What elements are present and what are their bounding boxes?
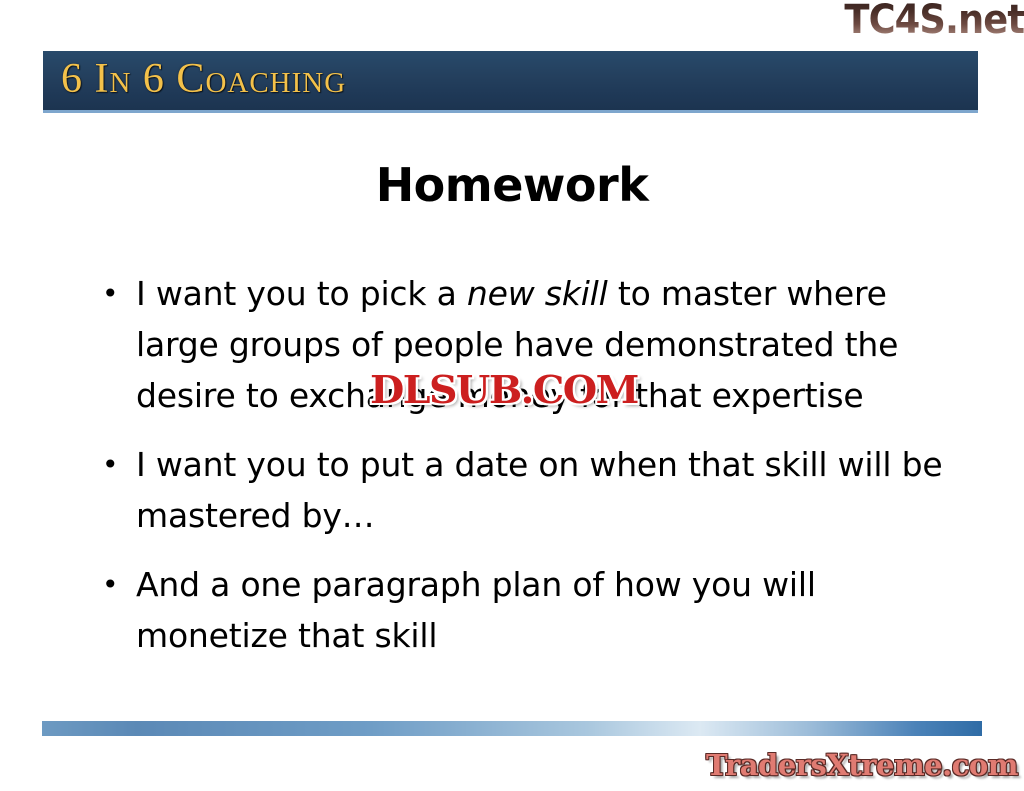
emphasised-text: new skill: [467, 274, 608, 313]
presentation-slide: TC4S.net 6 In 6 Coaching Homework I want…: [0, 0, 1024, 791]
tradersxtreme-watermark: TradersXtreme.com: [706, 748, 1018, 782]
page-title: Homework: [0, 158, 1024, 212]
homework-bullet-list: I want you to pick a new skill to master…: [96, 268, 946, 679]
body-text: And a one paragraph plan of how you will…: [136, 565, 816, 655]
list-item: I want you to put a date on when that sk…: [96, 439, 946, 541]
body-text: I want you to pick a: [136, 274, 467, 313]
header-banner-title: 6 In 6 Coaching: [61, 55, 346, 103]
list-item: I want you to pick a new skill to master…: [96, 268, 946, 421]
list-item: And a one paragraph plan of how you will…: [96, 559, 946, 661]
tc4s-site-watermark: TC4S.net: [834, 0, 1024, 42]
header-banner: 6 In 6 Coaching: [43, 51, 978, 113]
footer-divider-rule: [42, 721, 982, 736]
body-text: I want you to put a date on when that sk…: [136, 445, 942, 535]
